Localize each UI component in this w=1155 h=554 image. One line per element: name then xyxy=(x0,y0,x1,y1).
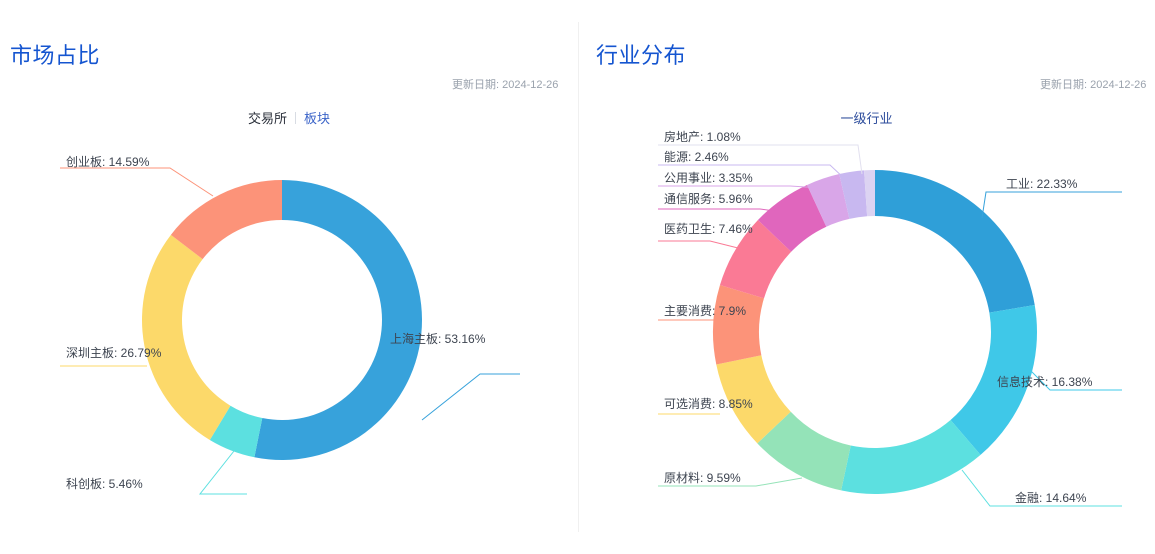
slice-label: 金融: 14.64% xyxy=(1015,490,1087,505)
donut-slices xyxy=(713,170,1037,494)
label-leader-line xyxy=(422,374,520,420)
donut-chart-market-share: 上海主板: 53.16%科创板: 5.46%深圳主板: 26.79%创业板: 1… xyxy=(0,0,578,554)
slice-label: 创业板: 14.59% xyxy=(66,155,150,169)
donut-slice[interactable] xyxy=(713,285,764,365)
panel-market-share: 市场占比 更新日期: 2024-12-26 交易所板块 上海主板: 53.16%… xyxy=(0,0,578,554)
dashboard-stage: 市场占比 更新日期: 2024-12-26 交易所板块 上海主板: 53.16%… xyxy=(0,0,1155,554)
slice-label: 原材料: 9.59% xyxy=(664,471,741,485)
donut-slice[interactable] xyxy=(254,180,422,460)
label-leader-line xyxy=(658,186,822,188)
slice-label: 房地产: 1.08% xyxy=(664,129,741,144)
slice-label: 工业: 22.33% xyxy=(1006,177,1078,191)
donut-slice[interactable] xyxy=(841,420,980,494)
slice-label: 信息技术: 16.38% xyxy=(997,374,1093,389)
slice-label: 科创板: 5.46% xyxy=(66,477,143,491)
donut-slice[interactable] xyxy=(142,235,230,440)
slice-label: 深圳主板: 26.79% xyxy=(66,346,162,360)
slice-label: 公用事业: 3.35% xyxy=(664,171,753,185)
donut-chart-industry-distribution: 工业: 22.33%信息技术: 16.38%金融: 14.64%原材料: 9.5… xyxy=(578,0,1155,554)
donut-slices xyxy=(142,180,422,460)
panel-industry-distribution: 行业分布 更新日期: 2024-12-26 一级行业 工业: 22.33%信息技… xyxy=(578,0,1155,554)
slice-label: 主要消费: 7.9% xyxy=(664,304,746,318)
donut-slice[interactable] xyxy=(875,170,1035,313)
label-leader-line xyxy=(200,451,247,494)
label-leader-line xyxy=(60,168,213,196)
label-leader-line xyxy=(658,241,746,250)
slice-label: 医药卫生: 7.46% xyxy=(664,222,753,236)
slice-label: 可选消费: 8.85% xyxy=(664,397,753,411)
slice-label: 通信服务: 5.96% xyxy=(664,191,753,206)
label-leader-line xyxy=(982,192,1122,218)
donut-slice[interactable] xyxy=(171,180,282,259)
slice-label: 上海主板: 53.16% xyxy=(390,331,486,346)
slice-label: 能源: 2.46% xyxy=(664,150,729,164)
